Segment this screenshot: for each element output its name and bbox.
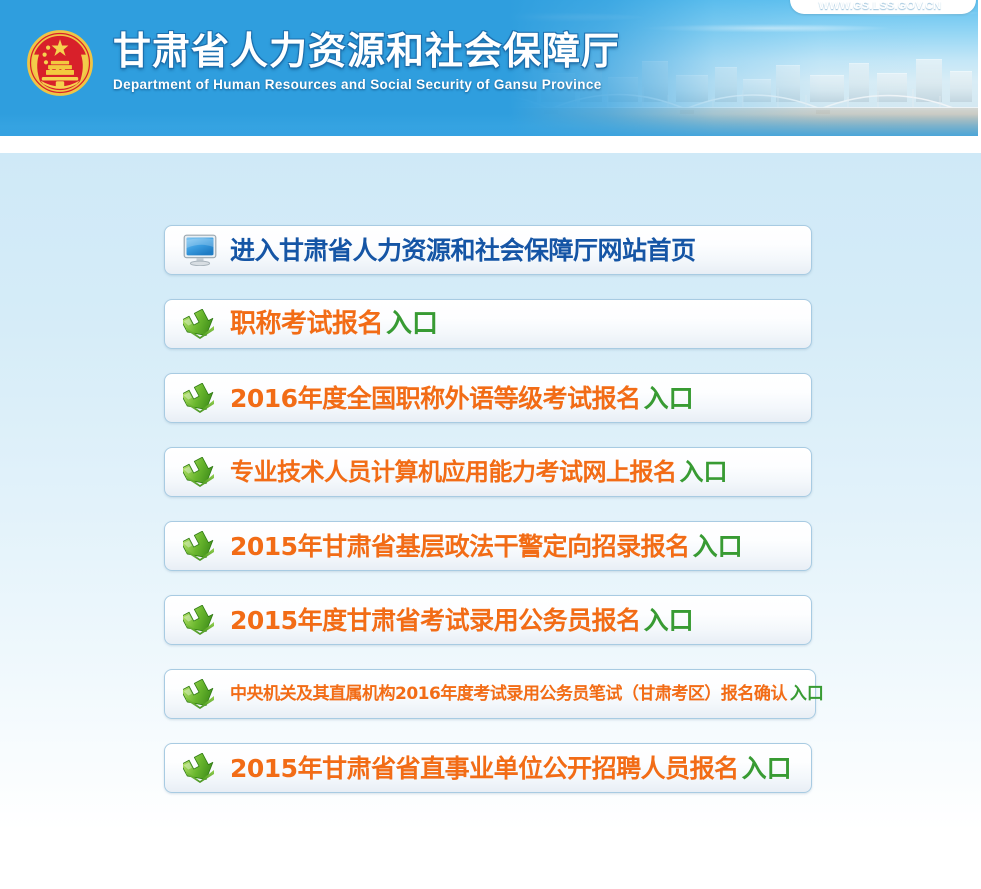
entry-link-main-text: 2016年度全国职称外语等级考试报名 [230,384,641,413]
green-arrow-icon [178,600,222,640]
site-title-en: Department of Human Resources and Social… [113,77,620,92]
entry-link-button[interactable]: 2016年度全国职称外语等级考试报名入口 [164,373,812,423]
site-url-tab: WWW.GS.LSS.GOV.CN [790,0,976,14]
green-arrow-icon [183,383,217,413]
entry-link-suffix-text: 入口 [644,606,694,635]
entry-link-main-text: 职称考试报名 [230,309,383,339]
site-url-text: WWW.GS.LSS.GOV.CN [790,0,970,12]
green-arrow-icon [178,674,222,714]
green-arrow-icon [178,452,222,492]
entry-link-suffix-text: 入口 [644,384,694,413]
entry-link-label: 2015年度甘肃省考试录用公务员报名入口 [230,608,694,633]
entry-link-suffix-text: 入口 [693,532,743,561]
site-title-cn: 甘肃省人力资源和社会保障厅 [113,28,620,74]
entry-link-label: 职称考试报名入口 [230,311,438,337]
green-arrow-icon [183,679,217,709]
entry-link-label: 专业技术人员计算机应用能力考试网上报名入口 [230,460,728,484]
entry-link-button[interactable]: 中央机关及其直属机构2016年度考试录用公务员笔试（甘肃考区）报名确认入口 [164,669,816,719]
entry-link-label: 中央机关及其直属机构2016年度考试录用公务员笔试（甘肃考区）报名确认入口 [230,686,824,703]
green-arrow-icon [183,753,217,783]
page-root: 甘肃省人力资源和社会保障厅 Department of Human Resour… [0,0,981,889]
entry-link-main-text: 进入甘肃省人力资源和社会保障厅网站首页 [230,236,696,265]
entry-link-main-text: 中央机关及其直属机构2016年度考试录用公务员笔试（甘肃考区）报名确认 [230,684,787,704]
entry-link-label: 2015年甘肃省省直事业单位公开招聘人员报名入口 [230,756,792,781]
entry-link-suffix-text: 入口 [386,309,438,339]
entry-link-main-text: 2015年度甘肃省考试录用公务员报名 [230,606,641,635]
green-arrow-icon [183,605,217,635]
header-bottom-fade [0,114,978,136]
header-divider-gap [0,136,981,153]
entry-link-button[interactable]: 2015年甘肃省省直事业单位公开招聘人员报名入口 [164,743,812,793]
green-arrow-icon [178,526,222,566]
entry-link-main-text: 2015年甘肃省省直事业单位公开招聘人员报名 [230,754,739,783]
entry-link-main-text: 专业技术人员计算机应用能力考试网上报名 [230,458,677,486]
green-arrow-icon [183,531,217,561]
monitor-icon [178,230,222,270]
china-national-emblem-icon [25,28,95,98]
green-arrow-icon [178,304,222,344]
entry-link-label: 2016年度全国职称外语等级考试报名入口 [230,386,694,411]
entry-link-label: 进入甘肃省人力资源和社会保障厅网站首页 [230,238,696,263]
entry-link-button[interactable]: 进入甘肃省人力资源和社会保障厅网站首页 [164,225,812,275]
green-arrow-icon [178,378,222,418]
green-arrow-icon [178,748,222,788]
green-arrow-icon [183,457,217,487]
entry-link-suffix-text: 入口 [742,754,792,783]
entry-link-label: 2015年甘肃省基层政法干警定向招录报名入口 [230,534,743,559]
green-arrow-icon [183,309,217,339]
entry-link-button[interactable]: 职称考试报名入口 [164,299,812,349]
entry-link-button[interactable]: 专业技术人员计算机应用能力考试网上报名入口 [164,447,812,497]
monitor-icon [183,234,217,266]
entry-link-list: 进入甘肃省人力资源和社会保障厅网站首页 职称考试报名入口 2016年度全国职称外… [164,225,824,817]
entry-link-main-text: 2015年甘肃省基层政法干警定向招录报名 [230,532,690,561]
site-header-banner: 甘肃省人力资源和社会保障厅 Department of Human Resour… [0,0,978,136]
entry-link-suffix-text: 入口 [680,458,728,486]
entry-link-suffix-text: 入口 [790,684,824,704]
entry-link-button[interactable]: 2015年度甘肃省考试录用公务员报名入口 [164,595,812,645]
header-titles: 甘肃省人力资源和社会保障厅 Department of Human Resour… [113,28,620,92]
entry-link-button[interactable]: 2015年甘肃省基层政法干警定向招录报名入口 [164,521,812,571]
